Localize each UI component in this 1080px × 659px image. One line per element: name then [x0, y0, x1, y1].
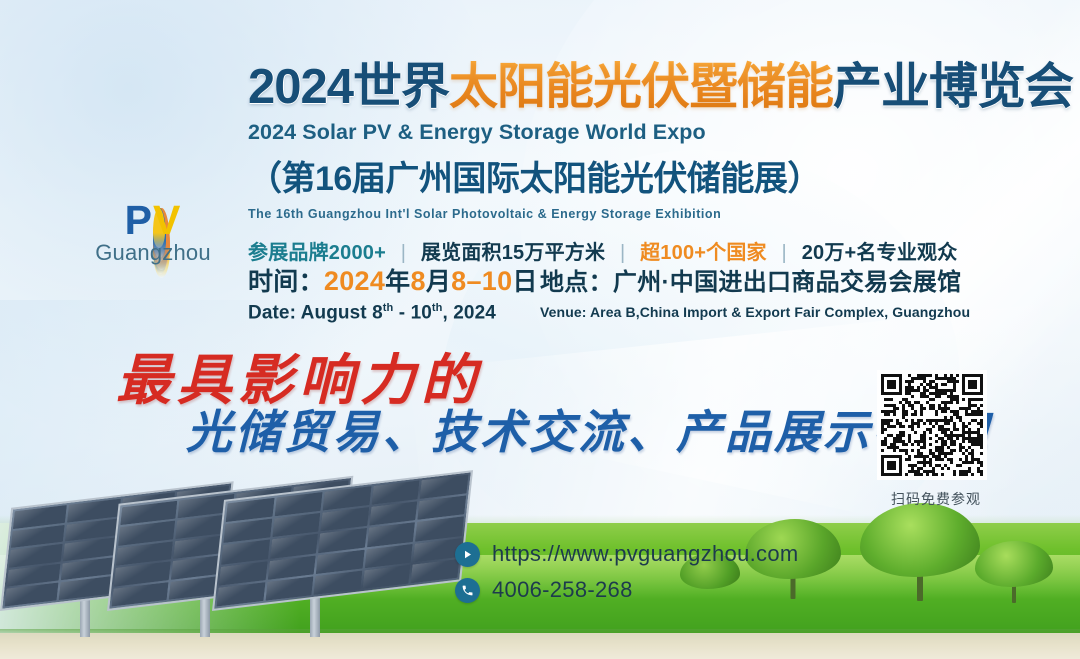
stat-separator: |	[401, 242, 406, 264]
event-venue-block: 地点：广州·中国进出口商品交易会展馆 Venue: Area B,China I…	[540, 262, 1000, 320]
date-en-day1: 8	[372, 302, 383, 323]
contact-website-row[interactable]: https://www.pvguangzhou.com	[455, 541, 799, 567]
headline-block: 2024世界太阳能光伏暨储能产业博览会 2024 Solar PV & Ener…	[248, 62, 1048, 265]
stat-countries: 超100+个国家	[640, 242, 767, 264]
tree-crown	[975, 541, 1053, 587]
phone-number[interactable]: 4006-258-268	[492, 577, 633, 603]
date-en-sup1: th	[383, 302, 394, 314]
date-en-mid: -	[393, 302, 410, 323]
date-line-cn: 时间：2024年8月8–10日	[248, 262, 548, 298]
edition-title-cn: （第16届广州国际太阳能光伏储能展）	[248, 151, 1048, 200]
qr-code-image[interactable]	[877, 370, 987, 480]
date-en-suffix: , 2024	[443, 302, 496, 323]
stat-separator: |	[782, 242, 787, 264]
logo-letter-v: V	[153, 197, 181, 243]
event-date-block: 时间：2024年8月8–10日 Date: August 8th - 10th,…	[248, 262, 548, 324]
date-en-prefix: Date: August	[248, 302, 372, 323]
date-days: 8–10	[451, 266, 512, 296]
logo-pv-text: PV	[58, 200, 248, 241]
logo-letter-p: P	[125, 197, 153, 243]
date-en-day2: 10	[411, 302, 432, 323]
stat-area: 展览面积15万平方米	[421, 242, 605, 264]
qr-caption: 扫码免费参观	[877, 489, 995, 509]
english-title: 2024 Solar PV & Energy Storage World Exp…	[248, 120, 1048, 145]
date-label-cn: 时间：	[248, 268, 324, 296]
contact-block: https://www.pvguangzhou.com 4006-258-268	[455, 541, 799, 613]
tree-crown	[860, 503, 980, 577]
stat-visitors: 20万+名专业观众	[802, 242, 958, 264]
venue-line-en: Venue: Area B,China Import & Export Fair…	[540, 304, 1000, 320]
phone-circle-icon	[455, 578, 480, 603]
slogan-line-2: 光储贸易、技术交流、产品展示平台！	[0, 408, 880, 459]
slogan-block: 最具影响力的 光储贸易、技术交流、产品展示平台！	[0, 352, 880, 458]
stats-line: 参展品牌2000+ | 展览面积15万平方米 | 超100+个国家 | 20万+…	[248, 236, 1048, 265]
stat-separator: |	[620, 242, 625, 264]
expo-poster: PV Guangzhou 2024世界太阳能光伏暨储能产业博览会 2024 So…	[0, 0, 1080, 659]
main-title: 2024世界太阳能光伏暨储能产业博览会	[248, 62, 1048, 113]
tree	[975, 543, 1053, 603]
date-month-unit: 月	[426, 268, 451, 296]
contact-phone-row[interactable]: 4006-258-268	[455, 577, 799, 603]
tree	[860, 505, 980, 601]
date-line-en: Date: August 8th - 10th, 2024	[248, 302, 548, 324]
qr-code-block: 扫码免费参观	[877, 370, 995, 509]
date-en-sup2: th	[432, 302, 443, 314]
pv-guangzhou-logo: PV Guangzhou	[58, 96, 248, 276]
date-year-unit: 年	[385, 268, 410, 296]
solar-panel-array-group	[0, 465, 462, 637]
date-day-unit: 日	[512, 268, 537, 296]
date-month: 8	[410, 266, 425, 296]
date-year: 2024	[324, 266, 385, 296]
website-url[interactable]: https://www.pvguangzhou.com	[492, 541, 799, 567]
main-title-part2: 太阳能光伏暨储能	[449, 60, 833, 114]
slogan-line-1: 最具影响力的	[0, 352, 880, 410]
play-circle-icon	[455, 542, 480, 567]
stat-brands: 参展品牌2000+	[248, 242, 386, 264]
edition-title-en: The 16th Guangzhou Int'l Solar Photovolt…	[248, 207, 1048, 221]
venue-line-cn: 地点：广州·中国进出口商品交易会展馆	[540, 262, 1000, 297]
logo-city-text: Guangzhou	[58, 242, 248, 264]
main-title-part1: 2024世界	[248, 60, 449, 114]
main-title-part3: 产业博览会	[833, 60, 1073, 114]
